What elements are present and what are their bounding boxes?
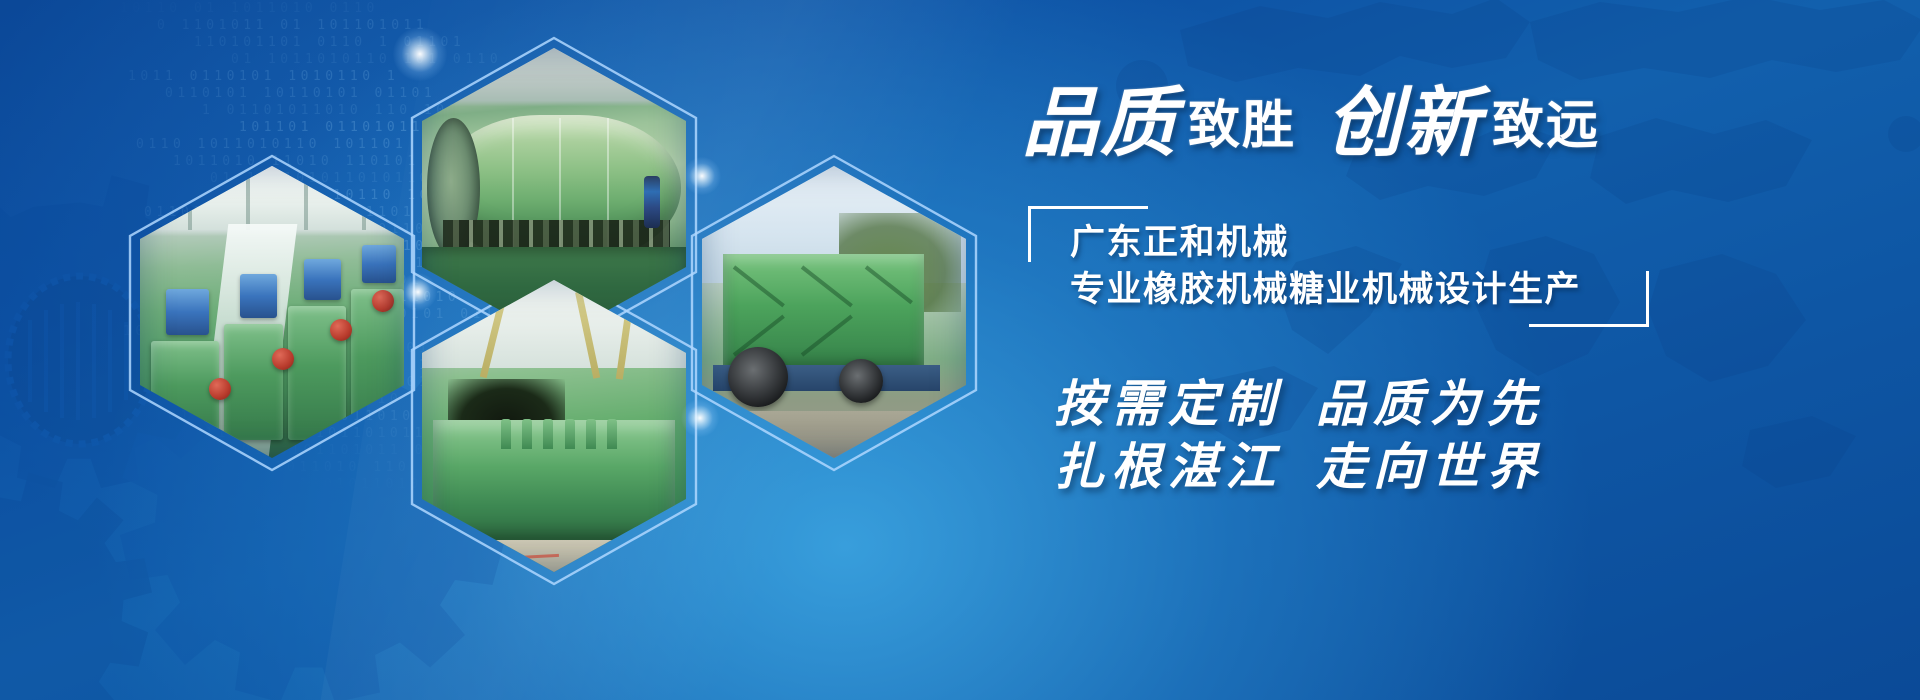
slogan-2-left: 扎根湛江 (1054, 439, 1282, 495)
slogan-row-1: 按需定制品质为先 (1054, 373, 1710, 436)
slogan-block: 按需定制品质为先 扎根湛江走向世界 (1054, 373, 1710, 499)
headline-part2-light: 致远 (1482, 97, 1604, 155)
binary-row: 0 1101011 01 101101011 (157, 17, 880, 34)
bracket-bottom-right-icon (1529, 271, 1649, 327)
slogan-row-2: 扎根湛江走向世界 (1054, 436, 1710, 499)
promo-banner: 10110 01 1011010 01100 1101011 01 101101… (0, 0, 1920, 700)
subtitle-line-1: 广东正和机械 (1070, 220, 1643, 267)
slogan-1-left: 按需定制 (1054, 376, 1282, 432)
slogan-1-right: 品质为先 (1316, 376, 1544, 432)
headline-part1-light: 致胜 (1178, 97, 1300, 155)
binary-row: 10110 01 1011010 0110 (120, 0, 880, 17)
banner-copy: 品质致胜创新致远 广东正和机械 专业橡胶机械糖业机械设计生产 按需定制品质为先 … (1010, 86, 1710, 499)
slogan-2-right: 走向世界 (1316, 439, 1544, 495)
subtitle-block: 广东正和机械 专业橡胶机械糖业机械设计生产 (1028, 206, 1643, 327)
headline-part2-bold: 创新 (1326, 82, 1482, 166)
bracket-top-left-icon (1028, 206, 1148, 262)
headline: 品质致胜创新致远 (1022, 86, 1710, 162)
headline-part1-bold: 品质 (1022, 82, 1178, 166)
hexagon-photo-cluster (130, 40, 890, 580)
